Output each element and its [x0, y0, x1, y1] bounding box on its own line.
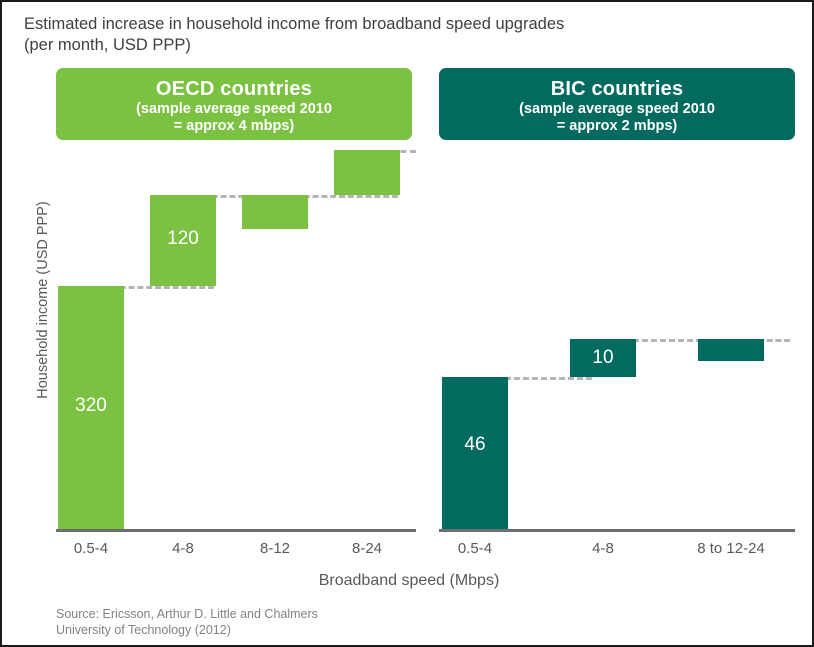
panel-header-oecd-title: OECD countries [56, 77, 412, 101]
x-axis-line-bic [439, 529, 795, 532]
x-tick-oecd-1: 0.5-4 [51, 540, 131, 557]
chart-figure: Estimated increase in household income f… [0, 0, 814, 647]
x-tick-bic-2: 4-8 [563, 540, 643, 557]
bar-oecd-2 [150, 195, 216, 286]
connector-bic-1 [442, 377, 592, 380]
connector-bic-3 [698, 339, 790, 342]
bar-bic-3 [698, 339, 764, 361]
connector-oecd-1 [58, 286, 214, 289]
bar-label-bic-1: 46 [442, 434, 508, 456]
bar-oecd-1 [58, 286, 124, 529]
figure-title: Estimated increase in household income f… [24, 14, 784, 56]
x-tick-oecd-3: 8-12 [235, 540, 315, 557]
bar-label-bic-2: 10 [570, 347, 636, 369]
panel-header-bic: BIC countries (sample average speed 2010… [439, 68, 795, 140]
connector-oecd-3 [242, 195, 398, 198]
panel-header-oecd-subtitle: (sample average speed 2010 = approx 4 mb… [56, 101, 412, 135]
x-tick-bic-3: 8 to 12-24 [681, 540, 781, 557]
connector-bic-2 [570, 339, 720, 342]
panel-header-bic-title: BIC countries [439, 77, 795, 101]
bar-label-oecd-2: 120 [150, 228, 216, 250]
bar-oecd-3 [242, 195, 308, 229]
x-tick-bic-1: 0.5-4 [435, 540, 515, 557]
bar-bic-2 [570, 339, 636, 377]
panel-header-bic-subtitle: (sample average speed 2010 = approx 2 mb… [439, 101, 795, 135]
connector-oecd-4 [334, 150, 416, 153]
y-axis-title: Household income (USD PPP) [35, 155, 51, 445]
bar-label-oecd-1: 320 [58, 395, 124, 417]
panel-header-oecd: OECD countries (sample average speed 201… [56, 68, 412, 140]
bar-bic-1 [442, 377, 508, 529]
x-tick-oecd-4: 8-24 [327, 540, 407, 557]
x-axis-line-oecd [56, 529, 416, 532]
x-tick-oecd-2: 4-8 [143, 540, 223, 557]
connector-oecd-2 [150, 195, 306, 198]
bar-oecd-4 [334, 150, 400, 195]
source-note: Source: Ericsson, Arthur D. Little and C… [56, 606, 318, 638]
x-axis-title: Broadband speed (Mbps) [2, 572, 814, 590]
